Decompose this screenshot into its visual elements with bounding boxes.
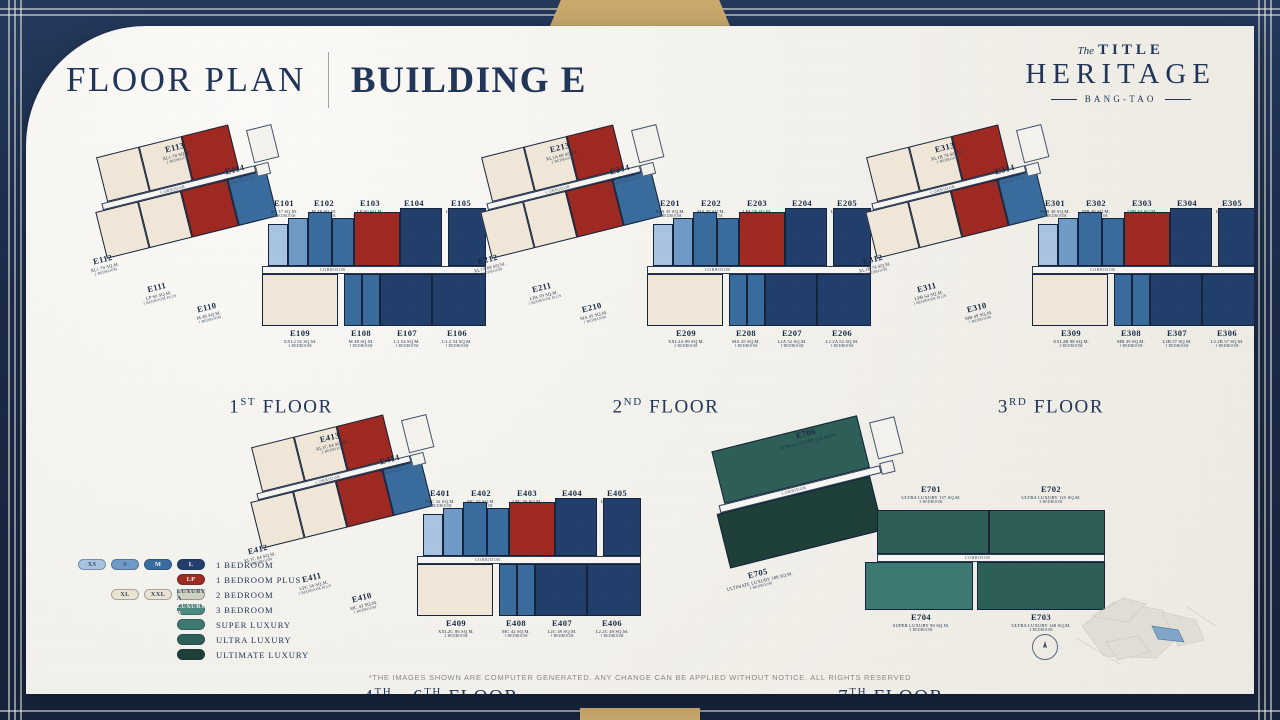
corridor-label-2R: CORRIDOR bbox=[705, 267, 730, 272]
corridor-label-3R: CORRIDOR bbox=[1090, 267, 1115, 272]
unit-label-E209: E209 XXL2A 89 SQ.M. 2 BEDROOM bbox=[657, 328, 715, 349]
unit-block-E108b[interactable] bbox=[362, 274, 380, 326]
unit-block-E308b[interactable] bbox=[1132, 274, 1150, 326]
legend-pill-m[interactable]: M bbox=[144, 559, 172, 570]
legend-pill-group: XSSML bbox=[74, 559, 210, 570]
unit-block-E402b[interactable] bbox=[487, 508, 509, 556]
unit-block-E102a[interactable] bbox=[308, 212, 332, 266]
legend-label: ULTRA LUXURY bbox=[216, 635, 292, 645]
unit-block-E401[interactable] bbox=[423, 514, 443, 556]
corridor-strip-3R bbox=[1032, 266, 1254, 274]
unit-label-E702: E702 ULTRA LUXURY 125 SQ.M. 3 BEDROOM bbox=[1003, 484, 1099, 505]
disclaimer-text: *THE IMAGES SHOWN ARE COMPUTER GENERATED… bbox=[26, 673, 1254, 682]
unit-block-E203[interactable] bbox=[739, 212, 785, 266]
content-card: FLOOR PLAN BUILDING E The TITLE HERITAGE… bbox=[26, 26, 1254, 694]
legend-pill-luxury-b[interactable]: LUXURY B bbox=[177, 604, 205, 615]
unit-block-E207[interactable] bbox=[765, 274, 817, 326]
unit-block-E305[interactable] bbox=[1218, 208, 1254, 266]
frame-gold-tab-top bbox=[550, 0, 730, 26]
unit-block-E202a[interactable] bbox=[693, 212, 717, 266]
unit-block-E303[interactable] bbox=[1124, 212, 1170, 266]
unit-block-E109[interactable] bbox=[262, 274, 338, 326]
floor-caption-3: 3RD FLOOR bbox=[946, 396, 1156, 418]
frame-pinstripe-left-1 bbox=[8, 0, 10, 720]
logo-rule-left bbox=[1051, 99, 1077, 100]
legend-pill-luxury-a[interactable]: LUXURY A bbox=[177, 589, 205, 600]
frame-pinstripe-left-2 bbox=[14, 0, 16, 720]
unit-block-E302a[interactable] bbox=[1078, 212, 1102, 266]
unit-block-E408a[interactable] bbox=[499, 564, 517, 616]
unit-block-E302b[interactable] bbox=[1102, 218, 1124, 266]
keyplan-map bbox=[1066, 586, 1226, 672]
legend-pill-xs[interactable]: XS bbox=[78, 559, 106, 570]
unit-block-E201[interactable] bbox=[653, 224, 673, 266]
legend-label: 1 BEDROOM bbox=[216, 560, 274, 570]
unit-block-E108a[interactable] bbox=[344, 274, 362, 326]
unit-block-E704[interactable] bbox=[865, 562, 973, 610]
legend-label: 3 BEDROOM bbox=[216, 605, 274, 615]
unit-block-E208a[interactable] bbox=[729, 274, 747, 326]
legend-pill-swatch-5[interactable] bbox=[177, 634, 205, 645]
legend-pill-group: XLXXLLUXURY A bbox=[74, 589, 210, 600]
unit-block-E307[interactable] bbox=[1150, 274, 1202, 326]
legend-pill-lp[interactable]: LP bbox=[177, 574, 205, 585]
unit-block-E301b[interactable] bbox=[1058, 218, 1078, 266]
floorplan-3-right-wing: E301 XSB 38 SQ.M. 1 BEDROOM E302 MB 49 S… bbox=[1032, 198, 1254, 348]
unit-block-E102b[interactable] bbox=[332, 218, 354, 266]
unit-block-E107[interactable] bbox=[380, 274, 432, 326]
legend-row: XLXXLLUXURY A2 BEDROOM bbox=[74, 587, 309, 602]
corridor-label-7R: CORRIDOR bbox=[965, 555, 990, 560]
unit-label-E406: E406 L2.2C 49 SQ.M. 1 BEDROOM bbox=[587, 618, 637, 639]
unit-label-E208: E208 MA 45 SQ.M. 1 BEDROOM bbox=[723, 328, 769, 349]
unit-block-E403[interactable] bbox=[509, 502, 555, 556]
legend-row: LP1 BEDROOM PLUS bbox=[74, 572, 309, 587]
compass-icon bbox=[1032, 634, 1058, 660]
legend-row: ULTIMATE LUXURY bbox=[74, 647, 309, 662]
unit-block-E201b[interactable] bbox=[673, 218, 693, 266]
unit-label-E401: E401 XSC 32 SQ.M. 1 BEDROOM bbox=[417, 488, 463, 509]
legend-pill-swatch-6[interactable] bbox=[177, 649, 205, 660]
unit-block-E402a[interactable] bbox=[463, 502, 487, 556]
lift-core-7 bbox=[869, 416, 903, 459]
legend-label: ULTIMATE LUXURY bbox=[216, 650, 309, 660]
unit-label-E704: E704 SUPER LUXURY 99 SQ.M. 3 BEDROOM bbox=[871, 612, 971, 633]
corridor-strip-7R bbox=[877, 554, 1105, 562]
corridor-strip-4R bbox=[417, 556, 641, 564]
unit-block-E208b[interactable] bbox=[747, 274, 765, 326]
legend-pill-group: LP bbox=[74, 574, 210, 585]
logo-the: The bbox=[1077, 45, 1094, 57]
legend-label: SUPER LUXURY bbox=[216, 620, 291, 630]
frame-gold-tab-bottom bbox=[580, 708, 700, 720]
unit-label-E307: E307 L2B 57 SQ.M. 1 BEDROOM bbox=[1154, 328, 1200, 349]
unit-label-E408: E408 MC 42 SQ.M. 1 BEDROOM bbox=[493, 618, 539, 639]
unit-block-E308a[interactable] bbox=[1114, 274, 1132, 326]
floor-caption-2: 2ND FLOOR bbox=[561, 396, 771, 418]
legend-row: SUPER LUXURY bbox=[74, 617, 309, 632]
corridor-label-4R: CORRIDOR bbox=[475, 557, 500, 562]
unit-label-E107: E107 L2 54 SQ.M. 1 BEDROOM bbox=[384, 328, 430, 349]
unit-block-E104[interactable] bbox=[400, 208, 442, 266]
unit-block-E406[interactable] bbox=[587, 564, 641, 616]
floorplan-2: CORRIDOR E213 XL1A 68 SQ.M. 2 BEDROOM E2… bbox=[451, 136, 871, 366]
logo-main: HERITAGE bbox=[1025, 58, 1216, 91]
building-title: BUILDING E bbox=[351, 59, 587, 102]
unit-block-E202b[interactable] bbox=[717, 218, 739, 266]
legend-label: 2 BEDROOM bbox=[216, 590, 274, 600]
floorplan-7: CORRIDOR E706 ULTRA LUXURY 124 SQ.M. 3 B… bbox=[691, 426, 1111, 656]
unit-label-E108: E108 M 48 SQ.M. 1 BEDROOM bbox=[338, 328, 384, 349]
unit-label-E701: E701 ULTRA LUXURY 137 SQ.M. 3 BEDROOM bbox=[883, 484, 979, 505]
legend-row: ULTRA LUXURY bbox=[74, 632, 309, 647]
legend: XSSML1 BEDROOMLP1 BEDROOM PLUSXLXXLLUXUR… bbox=[74, 557, 309, 662]
logo-title-line: The TITLE bbox=[1025, 42, 1216, 59]
unit-label-E308: E308 MB 49 SQ.M. 1 BEDROOM bbox=[1108, 328, 1154, 349]
legend-label: 1 BEDROOM PLUS bbox=[216, 575, 301, 585]
frame-pinstripe-left-3 bbox=[20, 0, 22, 720]
legend-pill-group bbox=[74, 619, 210, 630]
legend-pill-xl[interactable]: XL bbox=[111, 589, 139, 600]
logo-subtitle: BANG-TAO bbox=[1085, 94, 1157, 104]
page-header: FLOOR PLAN BUILDING E bbox=[66, 52, 587, 108]
floorplan-4-6-right-wing: E401 XSC 32 SQ.M. 1 BEDROOM E402 MC 42 S… bbox=[417, 488, 641, 638]
corridor-label-1R: CORRIDOR bbox=[320, 267, 345, 272]
legend-pill-group bbox=[74, 634, 210, 645]
unit-block-E701[interactable] bbox=[877, 510, 989, 554]
legend-row: XSSML1 BEDROOM bbox=[74, 557, 309, 572]
unit-block-E103[interactable] bbox=[354, 212, 400, 266]
unit-block-E304[interactable] bbox=[1170, 208, 1212, 266]
unit-label-E407: E407 L2C 49 SQ.M. 1 BEDROOM bbox=[539, 618, 585, 639]
unit-block-E101b[interactable] bbox=[288, 218, 308, 266]
legend-pill-group bbox=[74, 649, 210, 660]
unit-label-E306: E306 L2.2B 57 SQ.M. 1 BEDROOM bbox=[1202, 328, 1252, 349]
unit-block-E401b[interactable] bbox=[443, 508, 463, 556]
legend-pill-group: LUXURY B bbox=[74, 604, 210, 615]
unit-label-E109: E109 XXL2 92 SQ.M. 2 BEDROOM bbox=[272, 328, 328, 349]
stair-core-7 bbox=[879, 460, 895, 475]
floor-caption-7: 7TH FLOOR bbox=[786, 686, 996, 694]
logo-title: TITLE bbox=[1098, 42, 1164, 59]
unit-block-E405[interactable] bbox=[603, 498, 641, 556]
unit-label-E207: E207 L2A 52 SQ.M. 1 BEDROOM bbox=[769, 328, 815, 349]
brand-logo: The TITLE HERITAGE BANG-TAO bbox=[1025, 42, 1216, 104]
floor-caption-4-6: 4TH - 6TH FLOOR bbox=[326, 686, 556, 694]
unit-block-E702[interactable] bbox=[989, 510, 1105, 554]
floorplan-1: CORRIDOR E113 XL1 70 SQ.M. 2 BEDROOM E11… bbox=[66, 136, 486, 366]
legend-pill-xxl[interactable]: XXL bbox=[144, 589, 172, 600]
unit-block-E404[interactable] bbox=[555, 498, 597, 556]
unit-label-E301: E301 XSB 38 SQ.M. 1 BEDROOM bbox=[1032, 198, 1078, 219]
unit-block-E101[interactable] bbox=[268, 224, 288, 266]
floorplan-3: CORRIDOR E313 XL1B 74 SQ.M. 2 BEDROOM E3… bbox=[836, 136, 1254, 366]
frame-pinstripe-right-1 bbox=[1270, 0, 1272, 720]
legend-row: LUXURY B3 BEDROOM bbox=[74, 602, 309, 617]
unit-block-E407[interactable] bbox=[535, 564, 587, 616]
frame-pinstripe-right-2 bbox=[1264, 0, 1266, 720]
unit-block-E301[interactable] bbox=[1038, 224, 1058, 266]
legend-pill-s[interactable]: S bbox=[111, 559, 139, 570]
unit-block-E204[interactable] bbox=[785, 208, 827, 266]
unit-block-E209[interactable] bbox=[647, 274, 723, 326]
unit-label-E201: E201 XSA 35 SQ.M. 1 BEDROOM bbox=[647, 198, 693, 219]
unit-label-E309: E309 XXL2B 98 SQ.M. 2 BEDROOM bbox=[1042, 328, 1100, 349]
logo-rule-right bbox=[1165, 99, 1191, 100]
slide-root: FLOOR PLAN BUILDING E The TITLE HERITAGE… bbox=[0, 0, 1280, 720]
legend-pill-l[interactable]: L bbox=[177, 559, 205, 570]
title-divider bbox=[328, 52, 329, 108]
unit-block-E309[interactable] bbox=[1032, 274, 1108, 326]
frame-pinstripe-right-3 bbox=[1258, 0, 1260, 720]
legend-pill-swatch-4[interactable] bbox=[177, 619, 205, 630]
unit-block-E409[interactable] bbox=[417, 564, 493, 616]
unit-label-E101: E101 XS 37 SQ.M. 1 BEDROOM bbox=[262, 198, 306, 219]
unit-block-E306[interactable] bbox=[1202, 274, 1254, 326]
unit-block-E408b[interactable] bbox=[517, 564, 535, 616]
unit-label-E409: E409 XXL2C 86 SQ.M. 2 BEDROOM bbox=[427, 618, 485, 639]
